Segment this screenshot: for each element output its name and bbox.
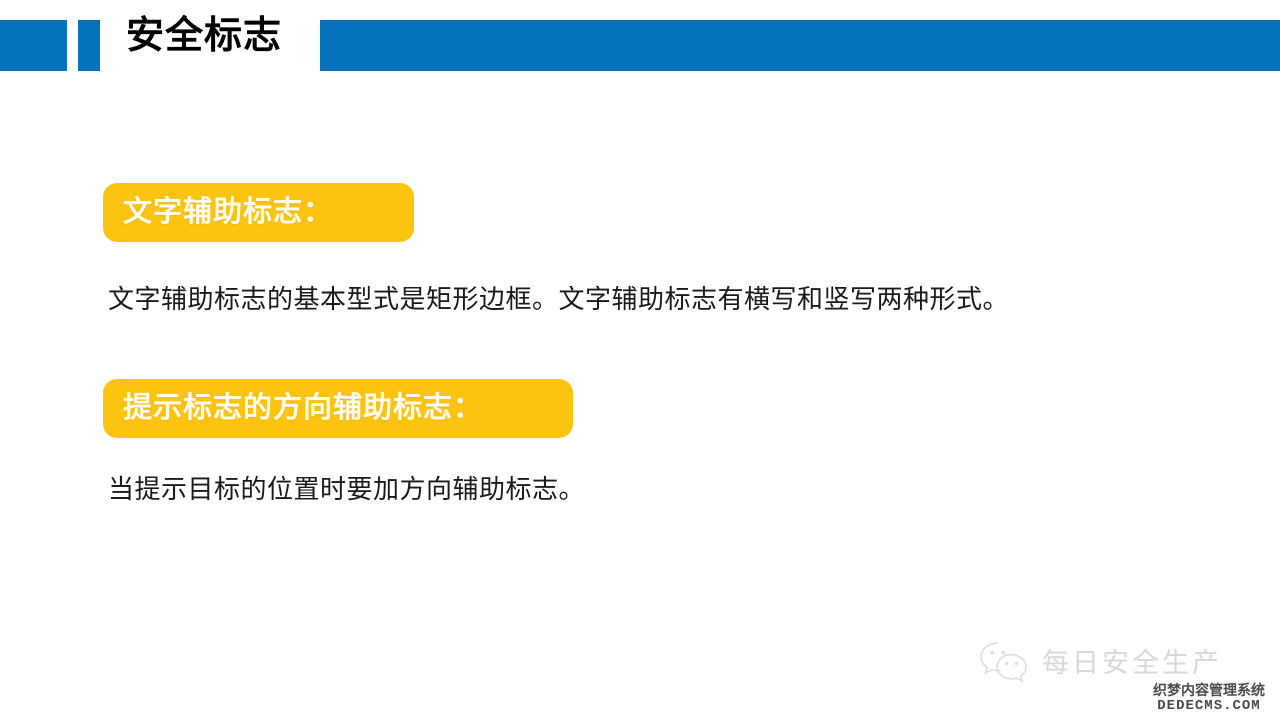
section-body-text-auxiliary-sign: 文字辅助标志的基本型式是矩形边框。文字辅助标志有横写和竖写两种形式。: [108, 282, 1009, 316]
section-body-direction-auxiliary-sign: 当提示目标的位置时要加方向辅助标志。: [108, 472, 585, 506]
wechat-watermark-label: 每日安全生产: [1042, 647, 1222, 679]
dedecms-watermark-cn: 织梦内容管理系统: [1142, 682, 1276, 698]
wechat-icon: [978, 640, 1030, 686]
dedecms-watermark-en: DEDECMS.COM: [1142, 698, 1276, 714]
slide-content: 文字辅助标志： 文字辅助标志的基本型式是矩形边框。文字辅助标志有横写和竖写两种形…: [0, 0, 1280, 720]
dedecms-watermark: 织梦内容管理系统 DEDECMS.COM: [1142, 682, 1276, 714]
section-badge-direction-auxiliary-sign: 提示标志的方向辅助标志：: [103, 379, 573, 438]
wechat-watermark: 每日安全生产: [978, 640, 1222, 686]
slide-canvas: 安全标志 文字辅助标志： 文字辅助标志的基本型式是矩形边框。文字辅助标志有横写和…: [0, 0, 1280, 720]
section-badge-text-auxiliary-sign: 文字辅助标志：: [103, 183, 414, 242]
